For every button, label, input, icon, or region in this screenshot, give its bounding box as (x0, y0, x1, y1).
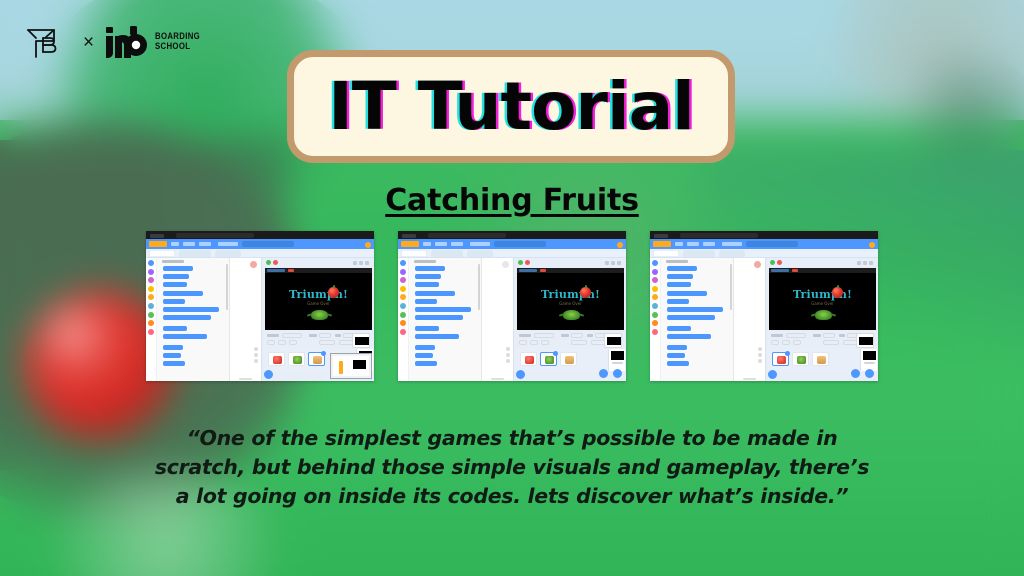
palette-block[interactable] (415, 361, 437, 366)
ibn-logo-wordmark: BOARDING SCHOOL (155, 32, 210, 51)
palette-block[interactable] (415, 282, 439, 287)
fb-flag-logo-icon (24, 24, 72, 60)
palette-block[interactable] (415, 299, 437, 304)
palette-block[interactable] (415, 334, 459, 339)
show-toggle[interactable] (267, 340, 275, 345)
green-flag-button[interactable] (266, 260, 271, 265)
stage-title-text: Triumph! (517, 288, 624, 301)
tab-code (149, 250, 175, 257)
menu-globe-icon (423, 242, 431, 246)
palette-scrollbar[interactable] (730, 264, 732, 310)
category-myblocks-icon (652, 329, 658, 335)
category-motion-icon (148, 260, 154, 266)
add-extension-button[interactable] (865, 369, 874, 378)
sprite-name-input[interactable] (786, 333, 806, 338)
add-backdrop-button[interactable] (851, 369, 860, 378)
tab-costumes (431, 250, 463, 257)
account-avatar (617, 242, 623, 248)
palette-block[interactable] (667, 345, 687, 350)
account-avatar (365, 242, 371, 248)
category-events-icon (652, 286, 658, 292)
editor-tabstrip (146, 249, 374, 258)
tab-sounds (467, 250, 493, 257)
category-events-icon (148, 286, 154, 292)
palette-block[interactable] (415, 291, 455, 296)
crab-sprite-thumb (545, 356, 554, 364)
size-stepper[interactable] (793, 340, 801, 345)
stage-preview[interactable]: Triumph! Game Over (265, 268, 372, 330)
stop-button[interactable] (525, 260, 530, 265)
screenshot-scratch-2[interactable]: Triumph! Game Over (398, 231, 626, 381)
sprite-info-panel (769, 333, 875, 347)
palette-block[interactable] (667, 326, 691, 331)
stage-variable-strip (769, 268, 876, 273)
palette-section-header (414, 260, 436, 263)
palette-block[interactable] (415, 345, 435, 350)
code-workspace[interactable] (230, 258, 261, 381)
browser-titlebar (650, 231, 878, 239)
show-toggle[interactable] (771, 340, 779, 345)
lives-readout (288, 269, 294, 272)
x-input[interactable] (571, 333, 583, 338)
apple-sprite-thumb (273, 356, 282, 364)
basket-sprite-thumb (565, 356, 574, 364)
category-myblocks-icon (400, 329, 406, 335)
stage-pane-label (864, 362, 875, 364)
sprite-info-panel (265, 333, 371, 347)
add-backdrop-button[interactable] (599, 369, 608, 378)
x-label (309, 334, 317, 337)
palette-block[interactable] (415, 266, 445, 271)
menu-tutorials (470, 242, 490, 246)
editor-tabstrip (398, 249, 626, 258)
stage-thumbnail (859, 337, 873, 345)
small-stage-button[interactable] (857, 261, 861, 265)
ibn-monogram-icon (105, 25, 149, 59)
tab-costumes (179, 250, 211, 257)
quote-line-2: scratch, but behind those simple visuals… (140, 453, 884, 482)
stage-title-text: Triumph! (265, 288, 372, 301)
sprite-item-basket[interactable] (812, 352, 829, 366)
basket-sprite-thumb (313, 356, 322, 364)
sprite-selected-badge (321, 351, 326, 356)
palette-block[interactable] (667, 266, 697, 271)
palette-block[interactable] (667, 334, 711, 339)
score-readout (267, 269, 285, 272)
pip-code-block (339, 361, 343, 374)
code-workspace[interactable] (482, 258, 513, 381)
stage-selector-card[interactable] (352, 333, 370, 348)
stage-crab-sprite (563, 310, 580, 320)
menu-edit (451, 242, 463, 246)
palette-block[interactable] (667, 299, 689, 304)
palette-block[interactable] (163, 274, 189, 279)
pip-stage (353, 360, 366, 369)
category-sound-icon (652, 277, 658, 283)
sprite-item-crab[interactable] (540, 352, 557, 366)
scratch-menubar (650, 239, 878, 249)
palette-block[interactable] (667, 315, 715, 320)
x-label (561, 334, 569, 337)
zoom-controls[interactable] (758, 347, 762, 365)
size-stepper[interactable] (289, 340, 297, 345)
category-sound-icon (400, 277, 406, 283)
category-variables-icon (148, 320, 154, 326)
y-label (335, 334, 341, 337)
green-flag-button[interactable] (518, 260, 523, 265)
category-operators-icon (652, 312, 658, 318)
sprite-item-basket[interactable] (560, 352, 577, 366)
sprite-list[interactable] (517, 349, 607, 374)
workspace-scrollbar[interactable] (743, 378, 755, 380)
score-readout (519, 269, 537, 272)
stage-pane-thumbnail (611, 351, 624, 360)
sprite-watermark (754, 261, 761, 268)
apple-sprite-thumb (525, 356, 534, 364)
project-name-field (242, 241, 294, 247)
palette-section-header (666, 260, 688, 263)
sprite-name-label (267, 334, 279, 337)
stage-selector-card[interactable] (856, 333, 874, 348)
crab-sprite-thumb (293, 356, 302, 364)
stage-controls-bar (769, 260, 875, 267)
category-myblocks-icon (148, 329, 154, 335)
logo-separator-x: × (83, 33, 94, 52)
size-stepper[interactable] (541, 340, 549, 345)
sprite-item-crab[interactable] (792, 352, 809, 366)
stop-button[interactable] (777, 260, 782, 265)
palette-block[interactable] (163, 291, 203, 296)
sprite-item-apple[interactable] (268, 352, 285, 366)
scratch-logo-icon (149, 241, 167, 247)
palette-section-header (162, 260, 184, 263)
crab-sprite-thumb (797, 356, 806, 364)
y-label (839, 334, 845, 337)
tab-sounds (719, 250, 745, 257)
palette-block[interactable] (667, 274, 693, 279)
block-category-rail (398, 258, 409, 381)
sprite-name-input[interactable] (534, 333, 554, 338)
browser-titlebar (398, 231, 626, 239)
category-events-icon (400, 286, 406, 292)
palette-block[interactable] (163, 315, 211, 320)
sprite-name-input[interactable] (282, 333, 302, 338)
palette-block[interactable] (667, 291, 707, 296)
browser-titlebar (146, 231, 374, 239)
small-stage-button[interactable] (605, 261, 609, 265)
project-name-field (494, 241, 546, 247)
palette-block[interactable] (415, 274, 441, 279)
palette-block[interactable] (667, 361, 689, 366)
palette-block[interactable] (163, 334, 207, 339)
sprite-selected-badge (553, 351, 558, 356)
sprite-selected-badge (785, 351, 790, 356)
scratch-menubar (398, 239, 626, 249)
category-sensing-icon (400, 303, 406, 309)
stage-controls-bar (517, 260, 623, 267)
stage-column: Triumph! Game Over (513, 258, 626, 381)
menu-file (435, 242, 447, 246)
stage-controls-bar (265, 260, 371, 267)
category-control-icon (148, 294, 154, 300)
stage-preview[interactable]: Triumph! Game Over (769, 268, 876, 330)
category-motion-icon (652, 260, 658, 266)
palette-block[interactable] (415, 353, 433, 358)
stage-pane-label (612, 362, 623, 364)
sprite-item-crab[interactable] (288, 352, 305, 366)
add-extension-button[interactable] (613, 369, 622, 378)
palette-block[interactable] (163, 266, 193, 271)
quote-block: “One of the simplest games that’s possib… (140, 424, 884, 511)
menu-edit (703, 242, 715, 246)
browser-tab (654, 234, 668, 238)
browser-address-bar (680, 233, 758, 238)
workspace-scrollbar[interactable] (239, 378, 251, 380)
block-category-rail (650, 258, 661, 381)
sprite-item-basket[interactable] (308, 352, 325, 366)
x-input[interactable] (319, 333, 331, 338)
stage-pane-thumbnail (863, 351, 876, 360)
size-input[interactable] (571, 340, 587, 345)
lives-readout (792, 269, 798, 272)
stage-pane[interactable] (608, 349, 625, 371)
category-sensing-icon (652, 303, 658, 309)
stage-subtitle-text: Game Over (265, 301, 372, 306)
logo-bar: × BOARDING SCHOOL (24, 24, 210, 60)
category-variables-icon (400, 320, 406, 326)
stage-pane[interactable] (860, 349, 877, 371)
x-label (813, 334, 821, 337)
category-sensing-icon (148, 303, 154, 309)
pip-inner (333, 356, 369, 376)
palette-block[interactable] (163, 345, 183, 350)
zoom-controls[interactable] (506, 347, 510, 365)
large-stage-button[interactable] (863, 261, 867, 265)
menu-file (183, 242, 195, 246)
sprite-item-apple[interactable] (520, 352, 537, 366)
zoom-controls[interactable] (254, 347, 258, 365)
menu-edit (199, 242, 211, 246)
stop-button[interactable] (273, 260, 278, 265)
scratch-menubar (146, 239, 374, 249)
palette-scrollbar[interactable] (226, 264, 228, 310)
menu-file (687, 242, 699, 246)
stage-apple-sprite (580, 287, 591, 298)
block-palette[interactable] (409, 258, 482, 381)
x-input[interactable] (823, 333, 835, 338)
sprite-watermark (250, 261, 257, 268)
category-looks-icon (652, 269, 658, 275)
menu-globe-icon (675, 242, 683, 246)
menu-globe-icon (171, 242, 179, 246)
palette-block[interactable] (163, 307, 219, 312)
stage-thumbnail (607, 337, 621, 345)
account-avatar (869, 242, 875, 248)
sprite-name-label (519, 334, 531, 337)
editor-tabstrip (650, 249, 878, 258)
stage-title-text: Triumph! (769, 288, 876, 301)
stage-apple-sprite (832, 287, 843, 298)
show-toggle[interactable] (519, 340, 527, 345)
stage-apple-sprite (328, 287, 339, 298)
picture-in-picture-preview[interactable] (330, 353, 372, 379)
tab-sounds (215, 250, 241, 257)
menu-tutorials (218, 242, 238, 246)
add-sprite-button[interactable] (768, 370, 777, 379)
quote-line-1: “One of the simplest games that’s possib… (140, 424, 884, 453)
green-flag-button[interactable] (770, 260, 775, 265)
palette-block[interactable] (163, 299, 185, 304)
palette-block[interactable] (667, 307, 723, 312)
fullscreen-button[interactable] (617, 261, 621, 265)
large-stage-button[interactable] (611, 261, 615, 265)
title-banner: IT Tutorial (287, 50, 735, 163)
apple-sprite-thumb (777, 356, 786, 364)
browser-address-bar (176, 233, 254, 238)
sprite-list[interactable] (769, 349, 859, 374)
block-palette[interactable] (157, 258, 230, 381)
fullscreen-button[interactable] (869, 261, 873, 265)
hide-toggle[interactable] (530, 340, 538, 345)
sprite-info-panel (517, 333, 623, 347)
browser-address-bar (428, 233, 506, 238)
stage-thumbnail (355, 337, 369, 345)
y-label (587, 334, 593, 337)
workspace-scrollbar[interactable] (491, 378, 503, 380)
ibn-boarding-school-logo: BOARDING SCHOOL (105, 25, 210, 59)
screenshot-scratch-1[interactable]: Triumph! Game Over (146, 231, 374, 381)
palette-block[interactable] (667, 282, 691, 287)
editor-body: Triumph! Game Over (146, 258, 374, 381)
hide-toggle[interactable] (278, 340, 286, 345)
hide-toggle[interactable] (782, 340, 790, 345)
size-input[interactable] (823, 340, 839, 345)
stage-column: Triumph! Game Over (765, 258, 878, 381)
category-control-icon (652, 294, 658, 300)
category-sound-icon (148, 277, 154, 283)
small-stage-button[interactable] (353, 261, 357, 265)
palette-block[interactable] (163, 361, 185, 366)
large-stage-button[interactable] (359, 261, 363, 265)
category-variables-icon (652, 320, 658, 326)
page-title: IT Tutorial (328, 74, 694, 140)
category-looks-icon (400, 269, 406, 275)
browser-tab (150, 234, 164, 238)
scratch-logo-icon (401, 241, 419, 247)
palette-block[interactable] (163, 326, 187, 331)
category-operators-icon (148, 312, 154, 318)
palette-block[interactable] (163, 282, 187, 287)
palette-scrollbar[interactable] (478, 264, 480, 310)
stage-crab-sprite (815, 310, 832, 320)
stage-subtitle-text: Game Over (769, 301, 876, 306)
stage-subtitle-text: Game Over (517, 301, 624, 306)
stage-column: Triumph! Game Over (261, 258, 374, 381)
screenshot-gallery: Triumph! Game Over (0, 231, 1024, 381)
palette-block[interactable] (667, 353, 685, 358)
editor-body: Triumph! Game Over (398, 258, 626, 381)
block-category-rail (146, 258, 157, 381)
palette-block[interactable] (163, 353, 181, 358)
screenshot-scratch-3[interactable]: Triumph! Game Over (650, 231, 878, 381)
ibn-logo-line-2: SCHOOL (155, 42, 200, 52)
palette-block[interactable] (415, 315, 463, 320)
stage-crab-sprite (311, 310, 328, 320)
subtitle-heading: Catching Fruits (0, 183, 1024, 218)
palette-block[interactable] (415, 326, 439, 331)
fullscreen-button[interactable] (365, 261, 369, 265)
project-name-field (746, 241, 798, 247)
stage-preview[interactable]: Triumph! Game Over (517, 268, 624, 330)
category-control-icon (400, 294, 406, 300)
menu-tutorials (722, 242, 742, 246)
stage-variable-strip (517, 268, 624, 273)
sprite-item-apple[interactable] (772, 352, 789, 366)
stage-variable-strip (265, 268, 372, 273)
category-looks-icon (148, 269, 154, 275)
category-operators-icon (400, 312, 406, 318)
sprite-name-label (771, 334, 783, 337)
sprite-watermark (502, 261, 509, 268)
tab-code (401, 250, 427, 257)
score-readout (771, 269, 789, 272)
scratch-logo-icon (653, 241, 671, 247)
add-sprite-button[interactable] (516, 370, 525, 379)
category-motion-icon (400, 260, 406, 266)
editor-body: Triumph! Game Over (650, 258, 878, 381)
tab-costumes (683, 250, 715, 257)
add-sprite-button[interactable] (264, 370, 273, 379)
block-palette[interactable] (661, 258, 734, 381)
stage-selector-card[interactable] (604, 333, 622, 348)
basket-sprite-thumb (817, 356, 826, 364)
browser-tab (402, 234, 416, 238)
tab-code (653, 250, 679, 257)
code-workspace[interactable] (734, 258, 765, 381)
lives-readout (540, 269, 546, 272)
quote-line-3: a lot going on inside its codes. lets di… (140, 482, 884, 511)
palette-block[interactable] (415, 307, 471, 312)
size-input[interactable] (319, 340, 335, 345)
